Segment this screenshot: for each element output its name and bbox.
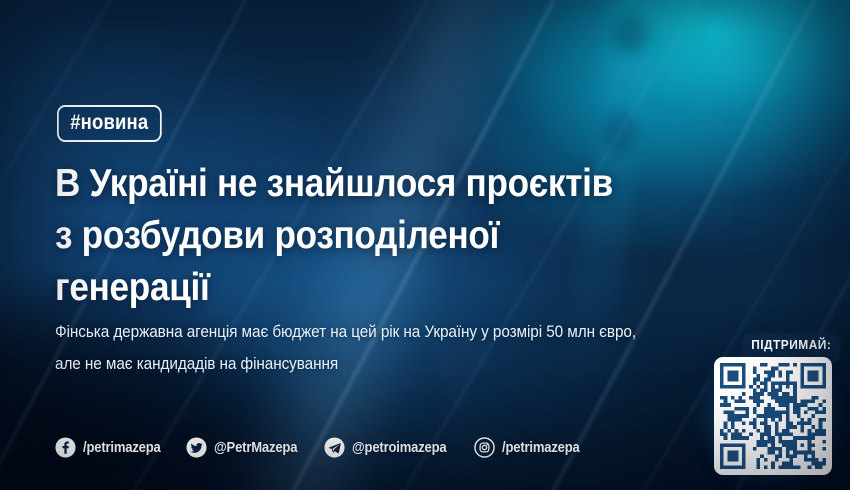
social-link-instagram[interactable]: /petrimazepa — [474, 437, 588, 458]
social-links: /petrimazepa @PetrMazepa @petroimazepa — [55, 437, 605, 458]
facebook-icon — [55, 437, 76, 458]
qr-code[interactable] — [714, 357, 832, 475]
social-handle-twitter: @PetrMazepa — [214, 440, 297, 456]
card-content: #новина В Україні не знайшлося проєктів … — [0, 0, 850, 490]
social-handle-telegram: @petroimazepa — [352, 440, 447, 456]
telegram-icon — [324, 437, 345, 458]
social-handle-instagram: /petrimazepa — [502, 440, 580, 456]
news-card: #новина В Україні не знайшлося проєктів … — [0, 0, 850, 490]
social-link-telegram[interactable]: @petroimazepa — [324, 437, 457, 458]
headline: В Україні не знайшлося проєктів з розбуд… — [55, 158, 631, 314]
social-link-twitter[interactable]: @PetrMazepa — [186, 437, 307, 458]
social-handle-facebook: /petrimazepa — [83, 440, 161, 456]
subtitle: Фінська державна агенція має бюджет на ц… — [55, 316, 687, 380]
qr-code-icon — [720, 363, 826, 469]
twitter-icon — [186, 437, 207, 458]
news-badge: #новина — [57, 105, 162, 142]
social-link-facebook[interactable]: /petrimazepa — [55, 437, 169, 458]
instagram-icon — [474, 437, 495, 458]
